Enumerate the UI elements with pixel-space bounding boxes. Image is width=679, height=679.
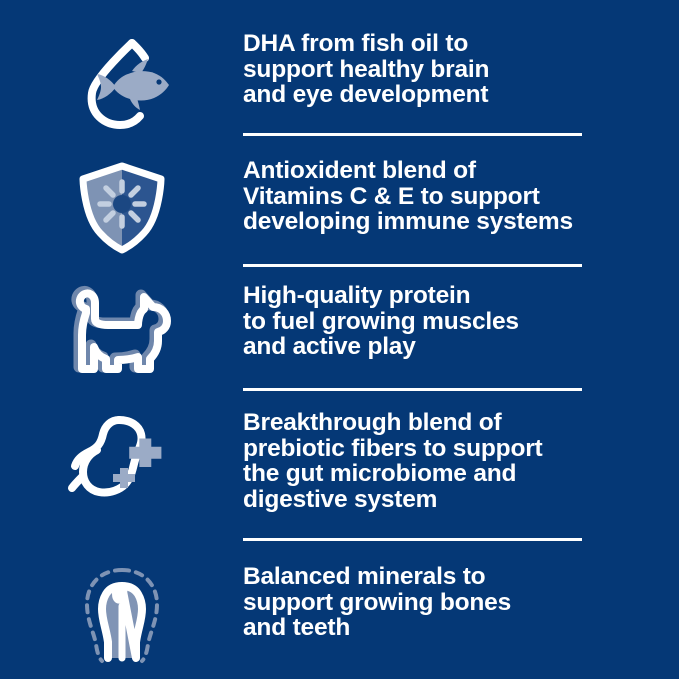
benefits-infographic-panel: DHA from fish oil to support healthy bra… <box>0 0 679 679</box>
benefit-icon-cell <box>0 158 243 258</box>
shield-burst-icon <box>73 158 171 258</box>
benefit-icon-cell <box>0 410 243 504</box>
benefit-text-cell: High-quality protein to fuel growing mus… <box>243 283 679 360</box>
benefit-text: Balanced minerals to support growing bon… <box>243 564 589 641</box>
dog-silhouette-icon <box>64 283 180 375</box>
benefit-text: Antioxident blend of Vitamins C & E to s… <box>243 158 589 235</box>
benefit-icon-cell <box>0 283 243 375</box>
benefit-text-cell: DHA from fish oil to support healthy bra… <box>243 31 679 108</box>
benefit-text: DHA from fish oil to support healthy bra… <box>243 31 589 108</box>
benefit-text-cell: Breakthrough blend of prebiotic fibers t… <box>243 410 679 512</box>
benefit-text: Breakthrough blend of prebiotic fibers t… <box>243 410 589 512</box>
benefit-row-protein: High-quality protein to fuel growing mus… <box>0 264 679 388</box>
fish-oil-droplet-icon <box>70 35 174 129</box>
stomach-plus-icon <box>67 412 177 504</box>
benefit-row-prebiotic: Breakthrough blend of prebiotic fibers t… <box>0 388 679 538</box>
tooth-bone-icon <box>76 564 168 664</box>
benefit-icon-cell <box>0 31 243 129</box>
benefit-text-cell: Antioxident blend of Vitamins C & E to s… <box>243 158 679 235</box>
benefit-row-minerals: Balanced minerals to support growing bon… <box>0 538 679 679</box>
benefit-text: High-quality protein to fuel growing mus… <box>243 283 589 360</box>
benefit-text-cell: Balanced minerals to support growing bon… <box>243 564 679 641</box>
benefit-row-dha: DHA from fish oil to support healthy bra… <box>0 0 679 133</box>
benefit-icon-cell <box>0 564 243 664</box>
benefits-list: DHA from fish oil to support healthy bra… <box>0 0 679 679</box>
benefit-row-antioxidant: Antioxident blend of Vitamins C & E to s… <box>0 133 679 264</box>
